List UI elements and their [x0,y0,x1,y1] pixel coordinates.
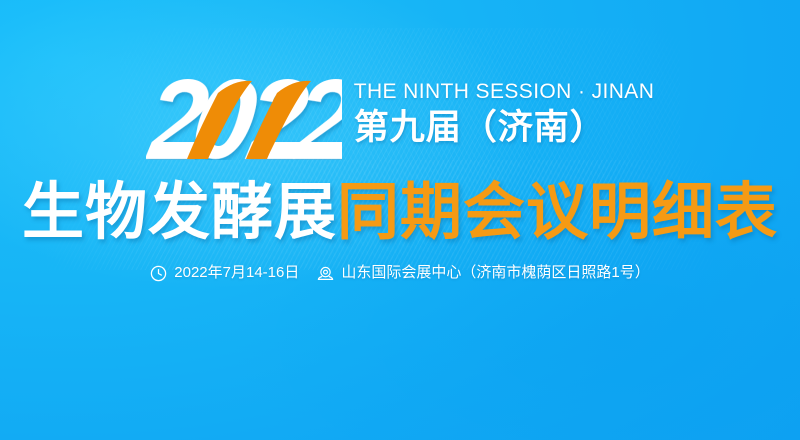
location-pin-icon [317,265,334,282]
year-2022-logomark [146,78,342,160]
headline-subject: 生物发酵展 [22,178,337,247]
event-date-text: 2022年7月14-16日 [174,262,299,284]
page-title: 生物发酵展同期会议明细表 [0,180,800,246]
headline-highlight: 同期会议明细表 [337,178,778,247]
event-venue-text: 山东国际会展中心（济南市槐荫区日照路1号） [341,262,649,284]
session-english-label: THE NINTH SESSION · JINAN [354,80,655,104]
banner-content: THE NINTH SESSION · JINAN 第九届（济南） 生物发酵展同… [0,0,800,440]
event-venue: 山东国际会展中心（济南市槐荫区日照路1号） [317,262,649,284]
session-block: THE NINTH SESSION · JINAN 第九届（济南） [354,78,655,150]
event-date: 2022年7月14-16日 [150,262,299,284]
session-chinese-label: 第九届（济南） [354,106,606,150]
event-banner: THE NINTH SESSION · JINAN 第九届（济南） 生物发酵展同… [0,0,800,440]
event-meta: 2022年7月14-16日 山东国际会展中心（济南市槐荫区日照路1号） [0,262,800,284]
clock-icon [150,265,167,282]
title-lockup: THE NINTH SESSION · JINAN 第九届（济南） [0,78,800,160]
